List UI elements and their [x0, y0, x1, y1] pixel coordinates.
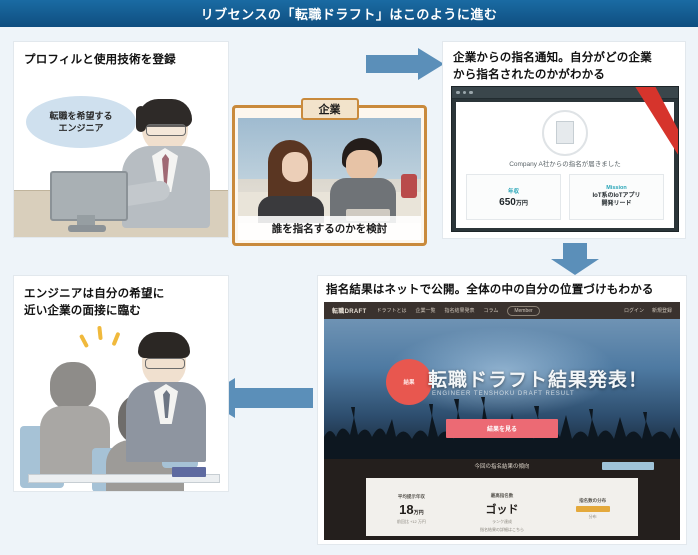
site-logo: 転職DRAFT [332, 306, 366, 315]
stat-dist-head: 指名数の分布 [579, 498, 606, 504]
photo-red-object [401, 174, 417, 198]
site-hero-banner: 結果 転職ドラフト結果発表！ ENGINEER TENSHOKU DRAFT R… [324, 319, 680, 459]
salary-label: 年収 [508, 187, 519, 195]
infographic-canvas: リブセンスの「転職ドラフト」はこのように進む プロフィルと使用技術を登録 転職を… [0, 0, 698, 555]
interview-title-line-1: エンジニアは自分の希望に [24, 286, 218, 303]
company-badge-label: 企業 [301, 98, 359, 120]
nav-signup[interactable]: 新規登録 [652, 307, 672, 314]
nav-item-2[interactable]: 指名結果発表 [444, 307, 474, 314]
stat-rank-head: 最高指名数 [491, 493, 514, 499]
interviewer-figure [126, 332, 206, 462]
site-nav-links: ドラフトとは 企業一覧 指名結果発表 コラム Member [376, 306, 539, 316]
results-strip: 今回の指名結果の傾向 [324, 459, 680, 473]
panel-company: 企業 誰を指名するのかを検討 [232, 105, 427, 246]
window-dots-icon [456, 91, 473, 95]
nomination-card-mission: Mission IoT系のIoTアプリ 開発リード [569, 174, 664, 220]
interview-panel-title: エンジニアは自分の希望に 近い企業の面接に臨む [24, 286, 218, 319]
engineer-figure [120, 102, 212, 227]
nomination-message: Company A社からの指名が届きました [456, 158, 674, 168]
mission-value: IoT系のIoTアプリ 開発リード [593, 193, 641, 209]
hero-result-badge: 結果 [386, 359, 432, 405]
job-interview-illustration [14, 320, 228, 491]
monitor-screen [50, 171, 128, 221]
hero-cta-button[interactable]: 結果を見る [446, 419, 558, 438]
interviewer-hair [138, 332, 190, 358]
engineer-hair [138, 99, 192, 127]
salary-value: 650万円 [499, 197, 528, 208]
company-caption: 誰を指名するのかを検討 [238, 216, 421, 240]
infographic-title-bar: リブセンスの「転職ドラフト」はこのように進む [0, 0, 698, 27]
notify-title-line-2: から指名されたのかがわかる [453, 67, 675, 84]
arrow-notify-to-results [551, 243, 599, 275]
mission-label: Mission [606, 185, 626, 191]
candidate-left-head [50, 362, 96, 410]
nomination-screenshot: Company A社からの指名が届きました 年収 650万円 Mission I… [451, 86, 679, 232]
document-icon [556, 121, 574, 144]
monitor-stand-base [68, 225, 106, 232]
notify-panel-title: 企業からの指名通知。自分がどの企業 から指名されたのかがわかる [451, 50, 677, 88]
register-panel-title: プロフィルと使用技術を登録 [24, 52, 218, 69]
nav-login[interactable]: ログイン [624, 307, 644, 314]
engineer-at-desk-illustration: 転職を希望する エンジニア [14, 76, 228, 237]
document-badge-icon [542, 110, 588, 156]
stat-salary-value: 18万円 [399, 502, 423, 517]
bubble-line-2: エンジニア [58, 122, 103, 134]
stat-dist-sub: 分布 [589, 514, 597, 520]
results-strip-label: 今回の指名結果の傾向 [474, 462, 529, 470]
company-recruiters-photo [238, 118, 421, 223]
nomination-cards: 年収 650万円 Mission IoT系のIoTアプリ 開発リード [466, 174, 664, 220]
nomination-card-salary: 年収 650万円 [466, 174, 561, 220]
laptop-on-table [172, 467, 206, 477]
results-stats-footer[interactable]: 指名結果の詳細はこちら [366, 527, 638, 533]
hero-subheading: ENGINEER TENSHOKU DRAFT RESULT [432, 391, 575, 397]
panel-nomination-notice: 企業からの指名通知。自分がどの企業 から指名されたのかがわかる Company … [443, 42, 685, 238]
interviewer-glasses [145, 358, 185, 369]
nav-item-3[interactable]: コラム [483, 307, 498, 314]
nav-item-0[interactable]: ドラフトとは [376, 307, 406, 314]
stat-rank-sub: ランク達成 [492, 519, 512, 525]
panel-register-profile: プロフィルと使用技術を登録 転職を希望する エンジニア [14, 42, 228, 237]
photo-person-b-face [346, 150, 378, 180]
draft-results-screenshot: 転職DRAFT ドラフトとは 企業一覧 指名結果発表 コラム Member ログ… [324, 302, 680, 540]
browser-content-area: Company A社からの指名が届きました 年収 650万円 Mission I… [456, 102, 674, 228]
interview-title-line-2: 近い企業の面接に臨む [24, 303, 218, 320]
hero-heading: 転職ドラフト結果発表！ [428, 365, 648, 392]
photo-person-a-face [282, 152, 308, 182]
results-panel-title: 指名結果はネットで公開。全体の中の自分の位置づけもわかる [324, 282, 680, 304]
stat-dist-bar [576, 506, 610, 512]
panel-interview: エンジニアは自分の希望に 近い企業の面接に臨む [14, 276, 228, 491]
site-navigation-bar: 転職DRAFT ドラフトとは 企業一覧 指名結果発表 コラム Member ログ… [324, 302, 680, 319]
site-nav-right: ログイン 新規登録 [624, 307, 672, 314]
results-stats-card: 平均提示年収 18万円 前回比 +12 万円 最高指名数 ゴッド ランク達成 指… [366, 478, 638, 536]
nav-item-1[interactable]: 企業一覧 [415, 307, 435, 314]
engineer-hair-side [136, 106, 146, 132]
panel-draft-results: 指名結果はネットで公開。全体の中の自分の位置づけもわかる 転職DRAFT ドラフ… [318, 276, 686, 544]
bubble-line-1: 転職を希望する [49, 110, 112, 122]
photo-background-wall [238, 118, 421, 179]
notify-title-line-1: 企業からの指名通知。自分がどの企業 [453, 50, 675, 67]
desktop-monitor-icon [50, 171, 124, 233]
stat-salary-head: 平均提示年収 [398, 494, 425, 500]
arrow-register-to-notify [366, 48, 444, 80]
results-strip-button[interactable] [602, 462, 654, 470]
stat-rank-value: ゴッド [486, 501, 519, 517]
engineer-glasses [146, 124, 186, 136]
nav-member-pill[interactable]: Member [507, 306, 539, 316]
browser-chrome-bar [452, 87, 678, 99]
stat-salary-sub: 前回比 +12 万円 [397, 519, 426, 525]
page-title: リブセンスの「転職ドラフト」はこのように進む [201, 4, 498, 23]
